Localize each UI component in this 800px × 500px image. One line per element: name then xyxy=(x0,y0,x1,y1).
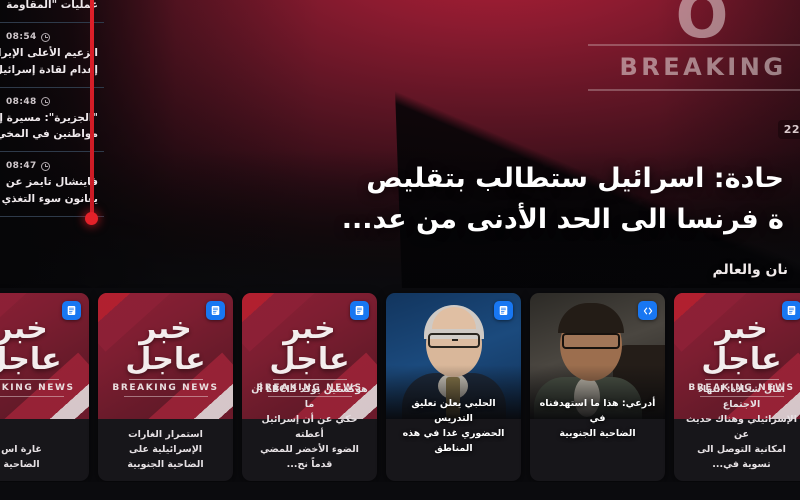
card-caption: استمرار الغارات الإسرائيلية على الضاحية … xyxy=(98,420,233,481)
breaking-arabic-1: خبر xyxy=(283,315,336,344)
caption-line: الحلبي يعلن تعليق التدريس xyxy=(394,396,513,426)
article-icon[interactable] xyxy=(350,301,369,320)
breaking-rule xyxy=(273,379,347,380)
article-icon[interactable] xyxy=(494,301,513,320)
breaking-rule xyxy=(0,379,59,380)
news-card[interactable]: خبر عاجل BREAKING NEWS هوكستين يؤكد لـLB… xyxy=(242,293,377,481)
breaking-rule-2 xyxy=(0,396,64,397)
ticker-title: عمليات "المقاومة xyxy=(6,0,98,13)
page-root: O BREAKING 22 حادة: اسرائيل ستطالب بتقلي… xyxy=(0,0,800,500)
card-caption: غارة اس الضاحية xyxy=(0,435,89,481)
ticker-time: 08:54 xyxy=(6,32,37,42)
ticker-meta: 08:48 xyxy=(6,97,98,107)
caption-line: امكانية التوصل الى تسوية في... xyxy=(682,442,800,472)
watermark-letter: O xyxy=(588,0,800,40)
glasses-bridge xyxy=(452,339,458,341)
card-carousel[interactable]: خبر عاجل BREAKING NEWS غارة اس الضاحية xyxy=(0,288,800,481)
breaking-english: BREAKING NEWS xyxy=(0,383,75,393)
breaking-arabic-2: عاجل xyxy=(125,346,205,375)
ticker-title: "الجزيرة": مسيرة إس xyxy=(6,110,98,126)
glasses-icon xyxy=(562,333,620,349)
card-caption: الحلبي يعلن تعليق التدريس الحضوري غدا في… xyxy=(386,389,521,465)
hero-headline[interactable]: حادة: اسرائيل ستطالب بتقليص ة فرنسا الى … xyxy=(4,158,784,240)
caption-line: أدرعي: هذا ما استهدفناه في xyxy=(538,396,657,426)
breaking-rule xyxy=(705,379,779,380)
news-card[interactable]: أدرعي: هذا ما استهدفناه في الضاحية الجنو… xyxy=(530,293,665,481)
breaking-english: BREAKING NEWS xyxy=(256,383,362,393)
watermark-rule-bottom xyxy=(588,89,800,91)
ticker-meta: 08:54 xyxy=(6,32,98,42)
ticker-progress-rail[interactable] xyxy=(90,0,94,222)
ticker-time: 08:48 xyxy=(6,97,37,107)
article-icon[interactable] xyxy=(206,301,225,320)
section-label: نان والعالم xyxy=(713,262,789,278)
news-card[interactable]: خبر عاجل BREAKING NEWS استمرار الغارات ا… xyxy=(98,293,233,481)
ticker-title: الزعيم الأعلى الإيرا xyxy=(6,45,98,61)
watermark-text: BREAKING xyxy=(588,50,800,85)
caption-line: الضاحية xyxy=(0,457,81,472)
breaking-rule-2 xyxy=(268,396,352,397)
breaking-arabic-2: عاجل xyxy=(269,346,349,375)
ticker-title: يعانون سوء التغذي xyxy=(6,191,98,207)
ticker-divider xyxy=(0,151,104,152)
news-card-strip[interactable]: خبر عاجل BREAKING NEWS غارة اس الضاحية xyxy=(0,288,800,500)
hero-banner[interactable]: O BREAKING 22 حادة: اسرائيل ستطالب بتقلي… xyxy=(0,0,800,288)
ticker-time: 08:47 xyxy=(6,161,37,171)
watermark-rule-top xyxy=(588,44,800,46)
news-card[interactable]: الحلبي يعلن تعليق التدريس الحضوري غدا في… xyxy=(386,293,521,481)
video-icon[interactable] xyxy=(638,301,657,320)
ticker-title: إعدام لقادة إسرائيل xyxy=(6,62,98,78)
breaking-rule-2 xyxy=(700,396,784,397)
strip-footer xyxy=(0,482,800,500)
caption-line: غارة اس xyxy=(0,442,81,457)
breaking-arabic-1: خبر xyxy=(715,315,768,344)
news-card[interactable]: خبر عاجل BREAKING NEWS أمال شحادة: انتها… xyxy=(674,293,800,481)
caption-line: الحضوري غدا في هذه المناطق xyxy=(394,426,513,456)
caption-line: الضاحية الجنوبية xyxy=(538,426,657,441)
caption-line: الضاحية الجنوبية xyxy=(106,457,225,472)
card-caption: أدرعي: هذا ما استهدفناه في الضاحية الجنو… xyxy=(530,389,665,450)
caption-line: الضوء الأخضر للمضي قدماً نح... xyxy=(250,442,369,472)
ticker-title: فاينشال تايمز عن xyxy=(6,174,98,190)
breaking-rule xyxy=(129,379,203,380)
ticker-divider xyxy=(0,22,104,23)
ticker-meta: 08:47 xyxy=(6,161,98,171)
caption-line: استمرار الغارات الإسرائيلية على xyxy=(106,427,225,457)
breaking-english: BREAKING NEWS xyxy=(688,383,794,393)
article-icon[interactable] xyxy=(62,301,81,320)
headline-line-2: ة فرنسا الى الحد الأدنى من عد... xyxy=(4,199,784,240)
breaking-rule-2 xyxy=(124,396,208,397)
clock-icon xyxy=(41,33,50,42)
breaking-arabic-2: عاجل xyxy=(0,346,62,375)
breaking-watermark: O BREAKING xyxy=(588,0,800,95)
ticker-title: مواطنين في المخي xyxy=(6,126,98,142)
photo-hair xyxy=(558,303,624,333)
headline-line-1: حادة: اسرائيل ستطالب بتقليص xyxy=(366,163,784,194)
slide-counter: 22 xyxy=(778,120,800,139)
breaking-arabic-1: خبر xyxy=(0,315,48,344)
breaking-arabic-1: خبر xyxy=(139,315,192,344)
article-icon[interactable] xyxy=(782,301,800,320)
ticker-divider xyxy=(0,87,104,88)
clock-icon xyxy=(41,97,50,106)
breaking-english: BREAKING NEWS xyxy=(112,383,218,393)
breaking-arabic-2: عاجل xyxy=(701,346,781,375)
clock-icon xyxy=(41,162,50,171)
news-card[interactable]: خبر عاجل BREAKING NEWS غارة اس الضاحية xyxy=(0,293,89,481)
ticker-progress-dot[interactable] xyxy=(85,212,98,225)
